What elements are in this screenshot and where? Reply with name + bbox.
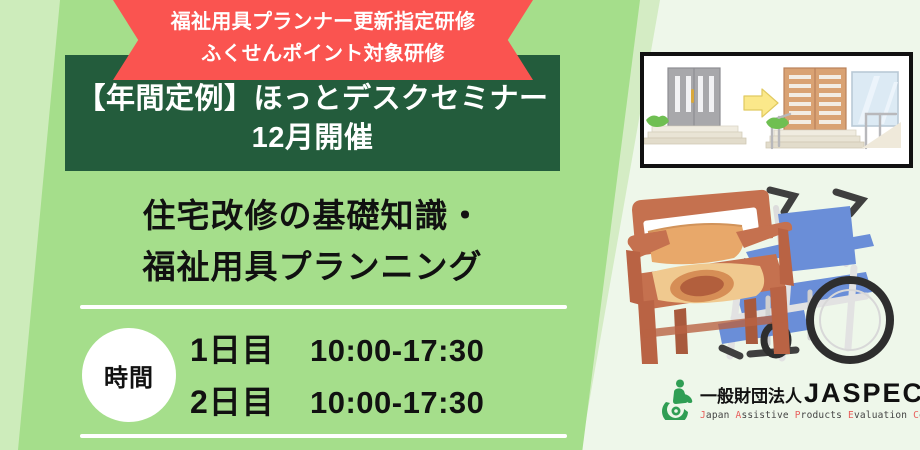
renovation-illustration-svg (644, 56, 901, 156)
divider-below-schedule (80, 434, 567, 438)
wheelchair-logo-icon (660, 378, 698, 420)
schedule-time-value: 10:00-17:30 (310, 385, 484, 421)
schedule-day-label: 2日目 (190, 377, 310, 423)
page-title: 住宅改修の基礎知識・ 福祉用具プランニング (60, 190, 565, 293)
seminar-banner: 【年間定例】ほっとデスクセミナー 12月開催 福祉用具プランナー更新指定研修 ふ… (0, 0, 920, 450)
subtitle-text: 【年間定例】ほっとデスクセミナー 12月開催 (65, 80, 560, 157)
schedule-row: 1日目 10:00-17:30 (190, 325, 560, 377)
jaspec-logo: 一般財団法人 JASPEC Japan Assistive Products E… (660, 372, 910, 426)
product-illustrations (618, 168, 918, 368)
schedule-day-label: 1日目 (190, 325, 310, 371)
schedule-rows: 1日目 10:00-17:30 2日目 10:00-17:30 (190, 325, 560, 429)
logo-tagline-word: Assistive (736, 410, 789, 421)
schedule-row: 2日目 10:00-17:30 (190, 377, 560, 429)
schedule-label-badge: 時間 (82, 328, 176, 422)
ribbon-text: 福祉用具プランナー更新指定研修 ふくせんポイント対象研修 (113, 6, 533, 71)
product-illustrations-svg (618, 168, 918, 368)
logo-tagline: Japan Assistive Products Evaluation Cent… (700, 410, 920, 421)
logo-organization-en: JASPEC (804, 378, 920, 409)
logo-tagline-word: Center (913, 410, 920, 421)
logo-title: 一般財団法人 JASPEC (700, 378, 920, 409)
logo-organization-jp: 一般財団法人 (700, 382, 802, 407)
schedule-label-text: 時間 (104, 358, 154, 393)
logo-tagline-word: Evaluation (848, 410, 907, 421)
renovation-illustration (640, 52, 913, 168)
divider-above-schedule (80, 305, 567, 309)
after-wooden-door (766, 68, 901, 148)
logo-tagline-word: Products (795, 410, 842, 421)
logo-text-group: 一般財団法人 JASPEC Japan Assistive Products E… (700, 378, 920, 421)
logo-tagline-word: Japan (700, 410, 730, 421)
schedule-time-value: 10:00-17:30 (310, 333, 484, 369)
